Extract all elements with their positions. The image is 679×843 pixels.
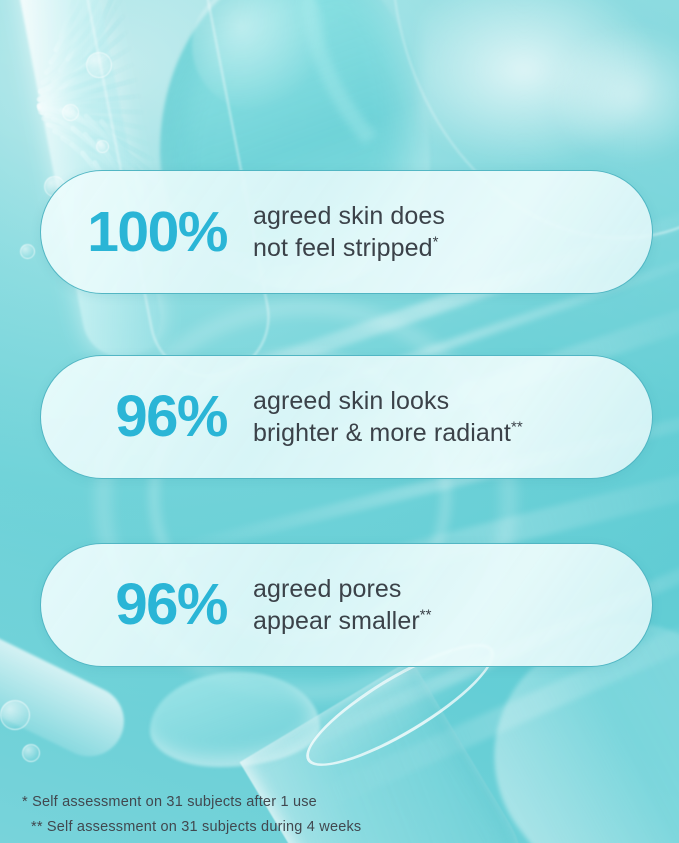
claim-description-line-2-text: appear smaller [253,607,420,635]
claim-percentage: 96% [41,388,253,446]
claims-content: 100% agreed skin does not feel stripped*… [0,0,679,843]
claim-card-brighter: 96% agreed skin looks brighter & more ra… [40,355,653,479]
footnote-marker: ** [511,419,523,436]
claim-description: agreed skin does not feel stripped* [253,200,652,264]
claim-description-line-1: agreed pores [253,573,652,605]
claim-description: agreed pores appear smaller** [253,573,652,637]
footnote-marker: ** [420,607,432,624]
claim-card-not-stripped: 100% agreed skin does not feel stripped* [40,170,653,294]
footnote-marker: * [433,234,439,251]
claim-description: agreed skin looks brighter & more radian… [253,385,652,449]
footnotes: * Self assessment on 31 subjects after 1… [22,790,361,840]
claim-percentage: 96% [41,576,253,634]
claim-description-line-2-text: brighter & more radiant [253,419,511,447]
claim-percentage: 100% [41,204,253,261]
claim-card-pores: 96% agreed pores appear smaller** [40,543,653,667]
footnote-single-asterisk: * Self assessment on 31 subjects after 1… [22,790,361,815]
claim-description-line-1: agreed skin does [253,200,652,232]
infographic-canvas: 100% agreed skin does not feel stripped*… [0,0,679,843]
claim-description-line-2: not feel stripped* [253,232,652,264]
footnote-double-asterisk: ** Self assessment on 31 subjects during… [22,815,361,840]
claim-description-line-2-text: not feel stripped [253,234,433,262]
claim-description-line-2: brighter & more radiant** [253,417,652,449]
claim-description-line-1: agreed skin looks [253,385,652,417]
claim-description-line-2: appear smaller** [253,605,652,637]
